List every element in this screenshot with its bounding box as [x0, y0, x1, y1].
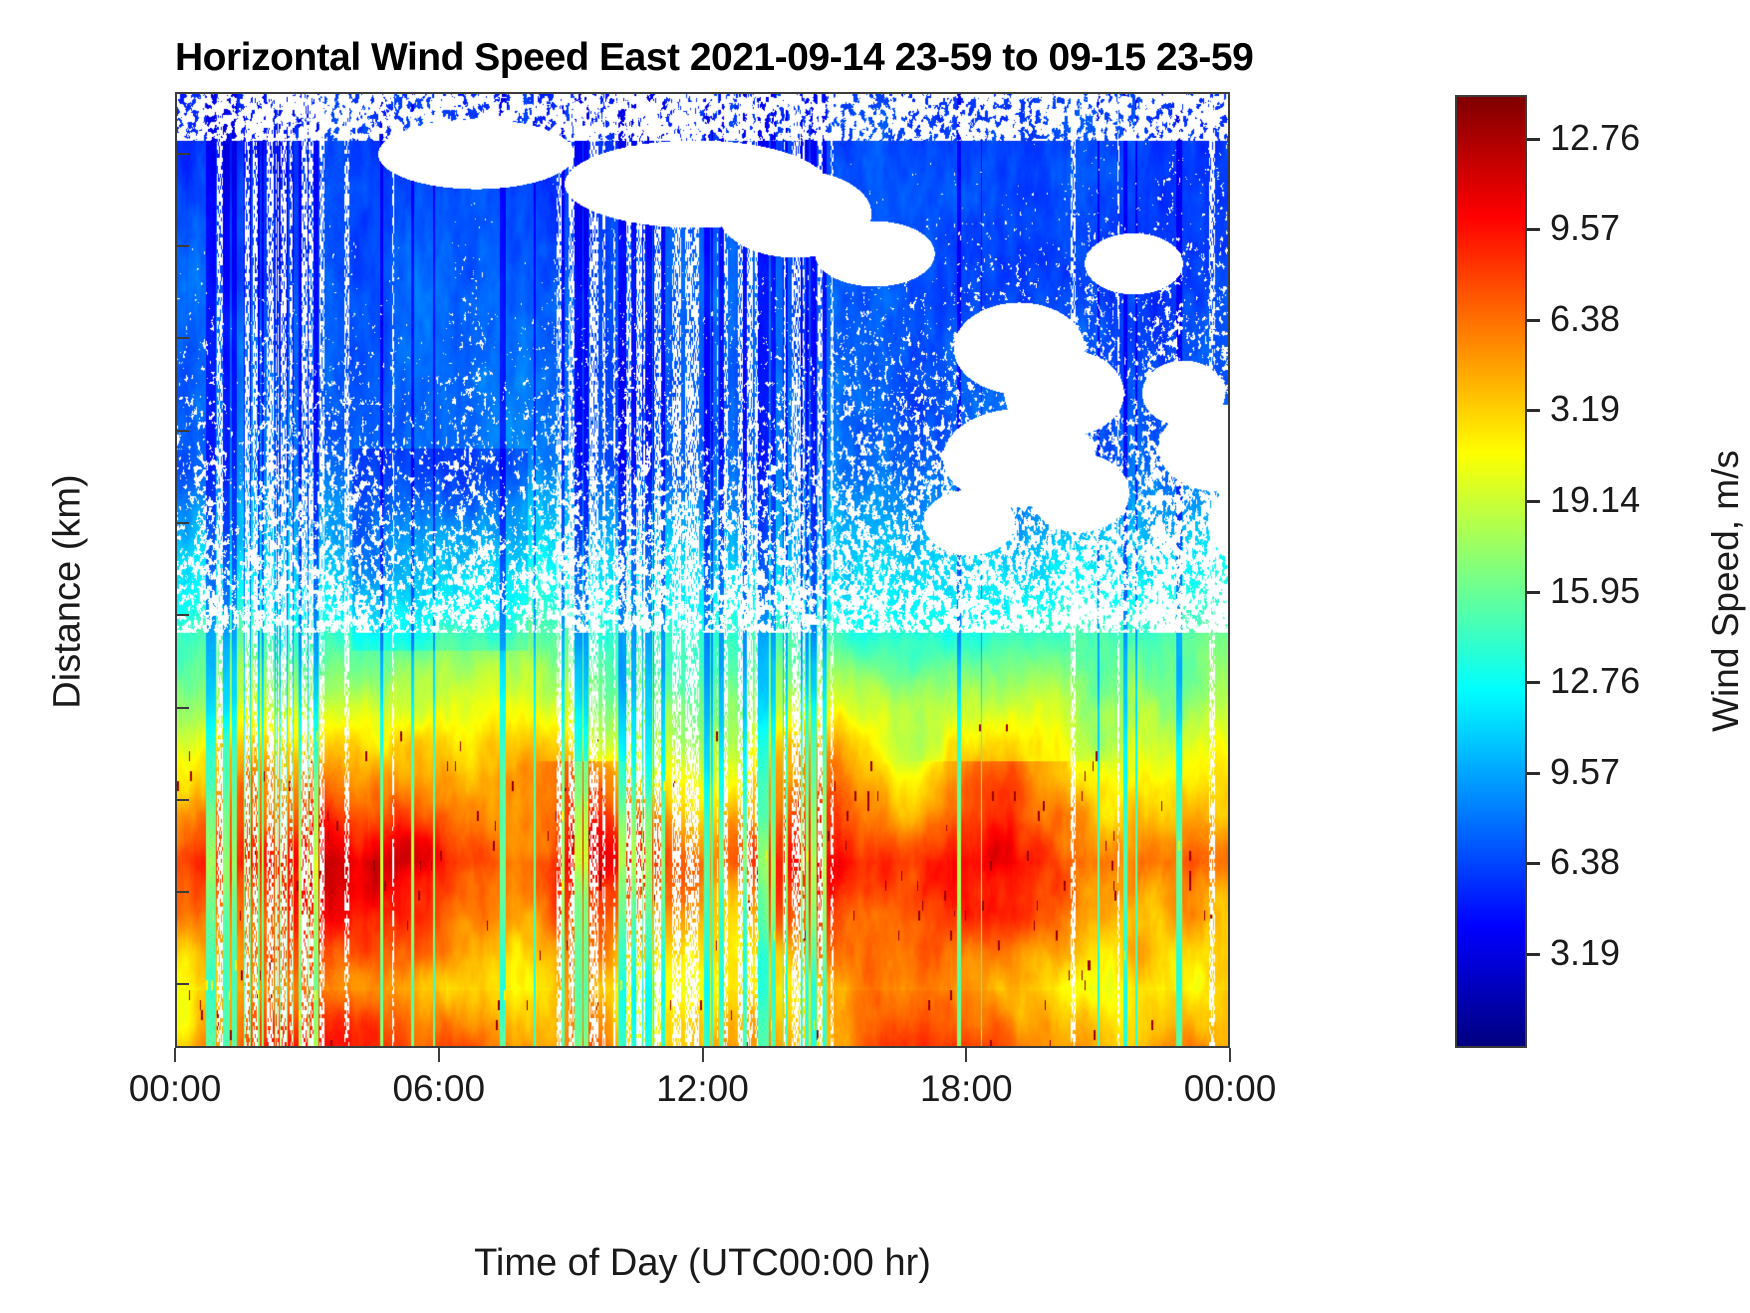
x-axis-label: Time of Day (UTC00:00 hr): [175, 1242, 1230, 1285]
y-tick-mark: [175, 153, 189, 155]
x-tick-label: 00:00: [129, 1068, 222, 1110]
colorbar-axis-label: Wind Speed, m/s: [1705, 331, 1747, 851]
y-tick-mark: [175, 337, 189, 339]
colorbar-tick-mark: [1527, 319, 1540, 322]
colorbar-tick-mark: [1527, 772, 1540, 775]
y-tick-mark: [175, 430, 189, 432]
colorbar-tick-mark: [1527, 409, 1540, 412]
x-tick-mark: [702, 1048, 704, 1062]
colorbar-tick-mark: [1527, 953, 1540, 956]
colorbar-tick-label: 9.57: [1550, 751, 1620, 793]
colorbar-tick-mark: [1527, 500, 1540, 503]
y-tick-mark: [175, 245, 189, 247]
colorbar-tick-mark: [1527, 138, 1540, 141]
figure-canvas: Horizontal Wind Speed East 2021-09-14 23…: [0, 0, 1750, 1313]
colorbar-tick-label: 3.19: [1550, 388, 1620, 430]
x-tick-label: 00:00: [1184, 1068, 1277, 1110]
colorbar-tick-label: 3.19: [1550, 932, 1620, 974]
y-tick-mark: [175, 983, 189, 985]
colorbar-tick-mark: [1527, 862, 1540, 865]
colorbar-tick-mark: [1527, 591, 1540, 594]
y-tick-mark: [175, 891, 189, 893]
colorbar-tick-label: 15.95: [1550, 570, 1640, 612]
heatmap-axes: [175, 92, 1230, 1048]
colorbar-tick-mark: [1527, 681, 1540, 684]
y-tick-mark: [175, 522, 189, 524]
y-tick-mark: [175, 707, 189, 709]
colorbar-tick-label: 12.76: [1550, 117, 1640, 159]
colorbar: [1455, 95, 1527, 1048]
colorbar-tick-label: 12.76: [1550, 660, 1640, 702]
colorbar-tick-mark: [1527, 228, 1540, 231]
colorbar-tick-label: 6.38: [1550, 298, 1620, 340]
x-tick-mark: [965, 1048, 967, 1062]
colorbar-tick-label: 6.38: [1550, 841, 1620, 883]
colorbar-tick-label: 9.57: [1550, 207, 1620, 249]
x-tick-mark: [438, 1048, 440, 1062]
colorbar-tick-label: 19.14: [1550, 479, 1640, 521]
x-tick-label: 06:00: [392, 1068, 485, 1110]
chart-title: Horizontal Wind Speed East 2021-09-14 23…: [175, 36, 1230, 80]
colorbar-gradient: [1455, 95, 1527, 1048]
x-tick-mark: [1229, 1048, 1231, 1062]
x-tick-mark: [174, 1048, 176, 1062]
y-axis-label: Distance (km): [47, 332, 90, 852]
x-tick-label: 12:00: [656, 1068, 749, 1110]
y-tick-mark: [175, 799, 189, 801]
y-tick-mark: [175, 614, 189, 616]
x-tick-label: 18:00: [920, 1068, 1013, 1110]
heatmap-plot-area: [177, 94, 1228, 1046]
